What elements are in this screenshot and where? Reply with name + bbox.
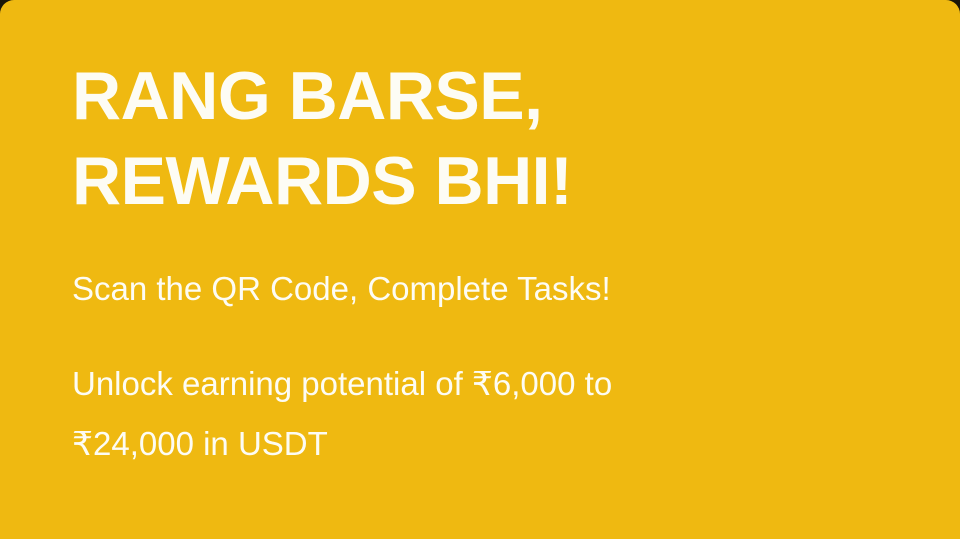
body-copy-line-2: ₹24,000 in USDT <box>72 414 772 474</box>
banner-subtitle: Scan the QR Code, Complete Tasks! <box>72 224 920 309</box>
headline-line-1: RANG BARSE, <box>72 54 920 139</box>
body-copy-line-1: Unlock earning potential of ₹6,000 to <box>72 354 772 414</box>
promo-banner: RANG BARSE, REWARDS BHI! Scan the QR Cod… <box>0 0 960 539</box>
banner-body-copy: Unlock earning potential of ₹6,000 to ₹2… <box>72 309 772 474</box>
banner-copy-block: RANG BARSE, REWARDS BHI! Scan the QR Cod… <box>72 54 920 474</box>
page-title: RANG BARSE, REWARDS BHI! <box>72 54 920 224</box>
headline-line-2: REWARDS BHI! <box>72 139 920 224</box>
